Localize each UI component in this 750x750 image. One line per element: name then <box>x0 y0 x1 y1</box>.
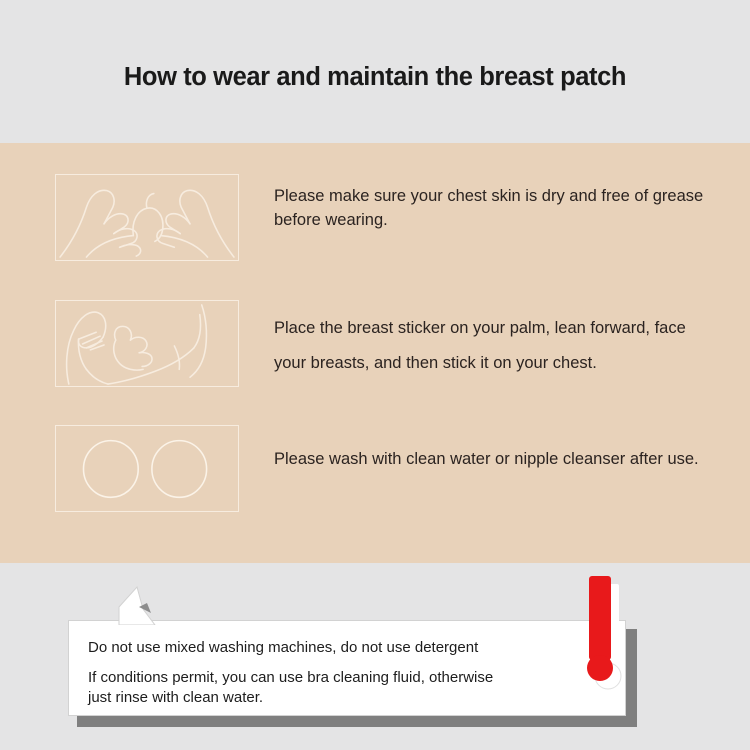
warning-text-line-1: Do not use mixed washing machines, do no… <box>88 639 478 656</box>
warning-callout: Do not use mixed washing machines, do no… <box>68 620 628 718</box>
instruction-step-text: Place the breast sticker on your palm, l… <box>274 311 722 381</box>
header-band: How to wear and maintain the breast patc… <box>0 0 750 143</box>
instruction-steps-panel: Please make sure your chest skin is dry … <box>0 143 750 563</box>
two-hands-cleaning-chest-icon <box>55 174 239 261</box>
two-round-patches-icon <box>55 425 239 512</box>
callout-tail <box>117 585 161 623</box>
footer-band: Do not use mixed washing machines, do no… <box>0 563 750 750</box>
person-leaning-forward-applying-patch-icon <box>55 300 239 387</box>
page-title: How to wear and maintain the breast patc… <box>0 63 750 92</box>
exclamation-mark-icon <box>583 572 645 682</box>
infographic-page: How to wear and maintain the breast patc… <box>0 0 750 750</box>
warning-text-line-3: just rinse with clean water. <box>88 689 263 706</box>
warning-text-line-2: If conditions permit, you can use bra cl… <box>88 669 493 686</box>
instruction-step-text: Please make sure your chest skin is dry … <box>274 184 722 232</box>
instruction-step-text: Please wash with clean water or nipple c… <box>274 437 722 481</box>
warning-box: Do not use mixed washing machines, do no… <box>68 620 626 716</box>
